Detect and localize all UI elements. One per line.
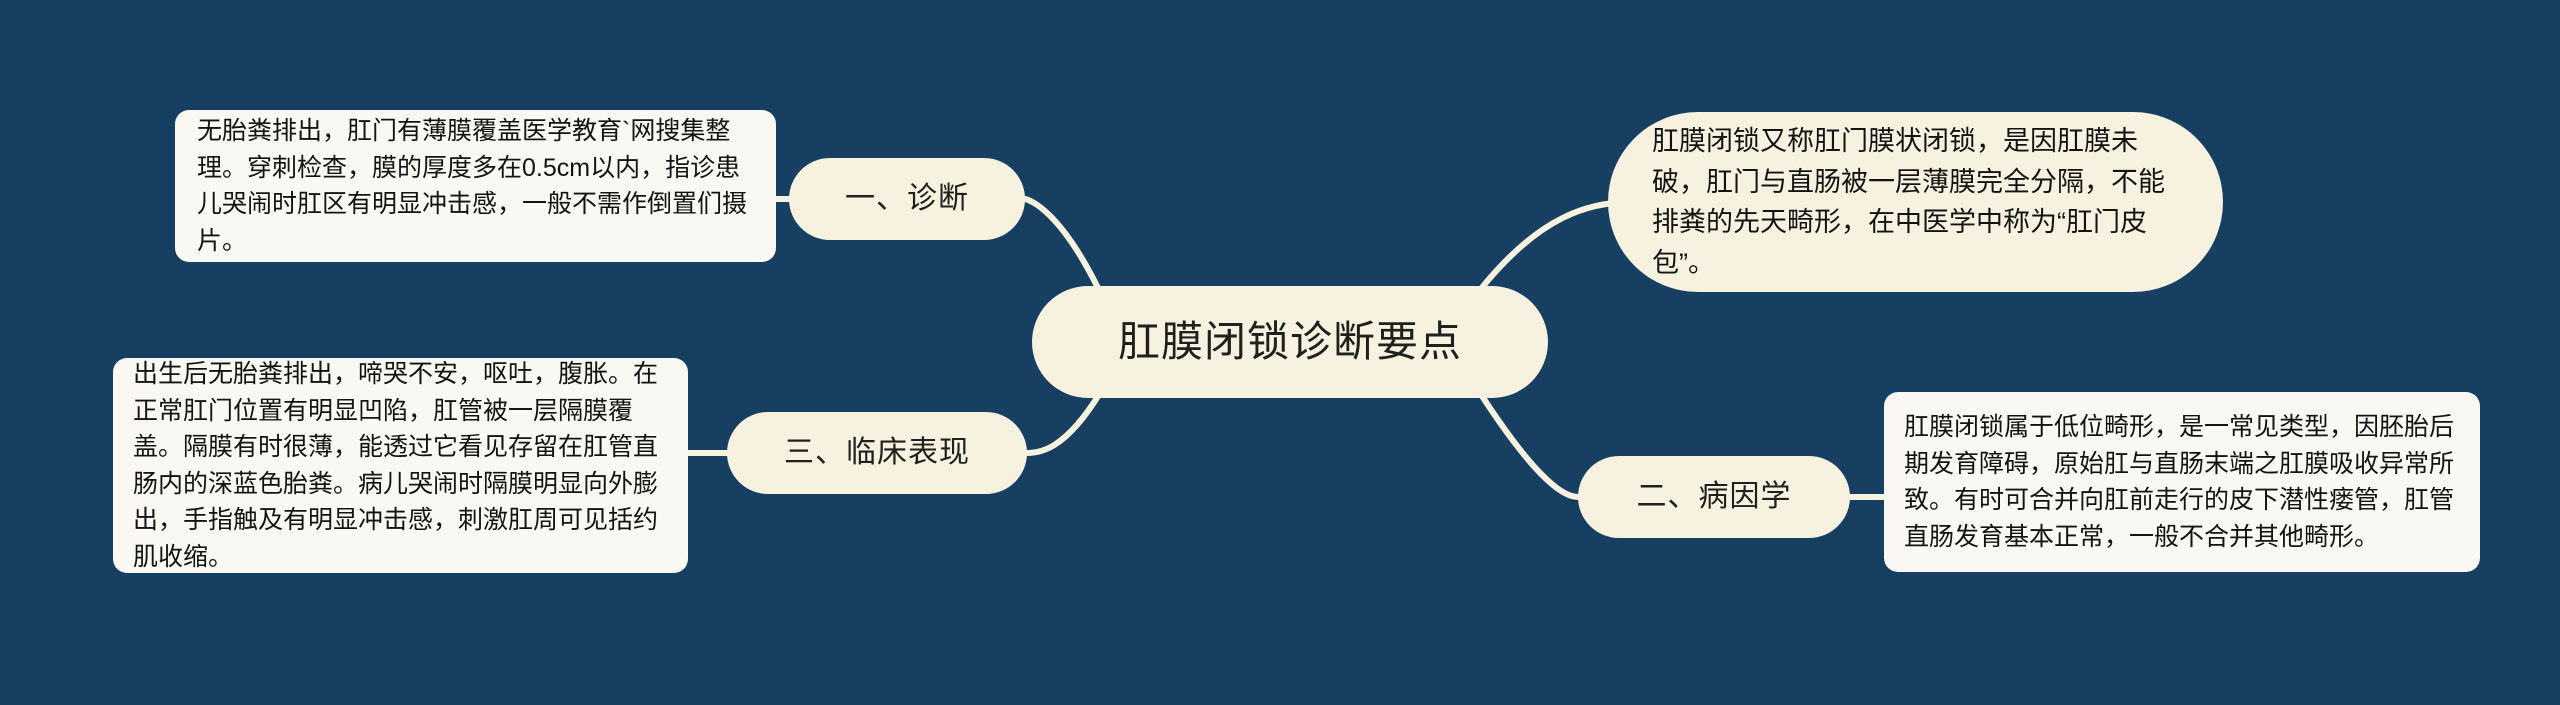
connector-root-to-clinical: [1027, 393, 1100, 453]
branch-node-etiology-label: 二、病因学: [1637, 482, 1792, 512]
root-node-label: 肛膜闭锁诊断要点: [1118, 321, 1462, 363]
detail-card-overview[interactable]: 肛膜闭锁又称肛门膜状闭锁，是因肛膜未破，肛门与直肠被一层薄膜完全分隔，不能排粪的…: [1608, 112, 2223, 292]
detail-card-etiology-text: 肛膜闭锁属于低位畸形，是一常见类型，因胚胎后期发育障碍，原始肛与直肠末端之肛膜吸…: [1904, 409, 2460, 555]
branch-node-clinical-label: 三、临床表现: [784, 438, 970, 468]
detail-card-clinical-text: 出生后无胎粪排出，啼哭不安，呕吐，腹胀。在正常肛门位置有明显凹陷，肛管被一层隔膜…: [133, 356, 668, 575]
root-node[interactable]: 肛膜闭锁诊断要点: [1032, 286, 1548, 398]
detail-card-diagnosis[interactable]: 无胎粪排出，肛门有薄膜覆盖医学教育`网搜集整理。穿刺检查，膜的厚度多在0.5cm…: [175, 110, 776, 262]
detail-card-overview-text: 肛膜闭锁又称肛门膜状闭锁，是因肛膜未破，肛门与直肠被一层薄膜完全分隔，不能排粪的…: [1652, 121, 2179, 283]
detail-card-clinical[interactable]: 出生后无胎粪排出，啼哭不安，呕吐，腹胀。在正常肛门位置有明显凹陷，肛管被一层隔膜…: [113, 358, 688, 573]
connector-root-to-diagnosis: [1025, 199, 1100, 292]
detail-card-etiology[interactable]: 肛膜闭锁属于低位畸形，是一常见类型，因胚胎后期发育障碍，原始肛与直肠末端之肛膜吸…: [1884, 392, 2480, 572]
detail-card-diagnosis-text: 无胎粪排出，肛门有薄膜覆盖医学教育`网搜集整理。穿刺检查，膜的厚度多在0.5cm…: [197, 113, 754, 259]
mindmap-canvas: 肛膜闭锁诊断要点 一、诊断 三、临床表现 二、病因学 无胎粪排出，肛门有薄膜覆盖…: [0, 0, 2560, 705]
branch-node-etiology[interactable]: 二、病因学: [1578, 456, 1850, 538]
branch-node-diagnosis-label: 一、诊断: [845, 184, 969, 214]
branch-node-clinical[interactable]: 三、临床表现: [727, 412, 1027, 494]
branch-node-diagnosis[interactable]: 一、诊断: [789, 158, 1025, 240]
connector-root-to-etiology: [1480, 393, 1578, 497]
